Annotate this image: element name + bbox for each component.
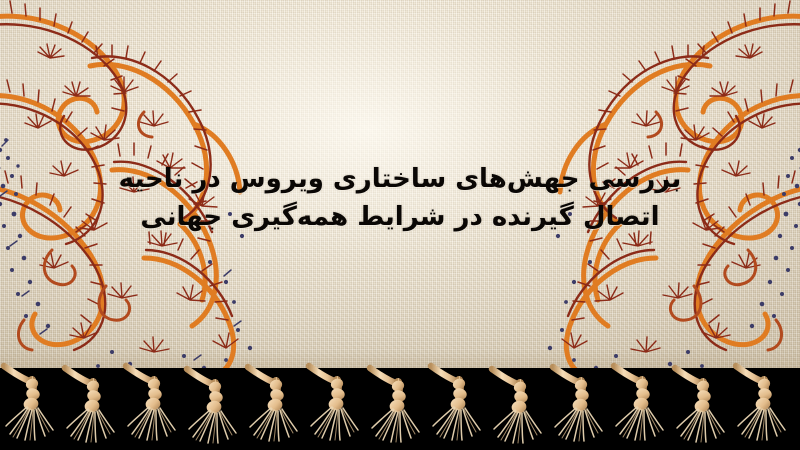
title-block: بررسی جهش‌های ساختاری ویروس در ناحیه اتص… bbox=[0, 160, 800, 236]
title-line-1: بررسی جهش‌های ساختاری ویروس در ناحیه bbox=[0, 160, 800, 198]
title-card: بررسی جهش‌های ساختاری ویروس در ناحیه اتص… bbox=[0, 0, 800, 450]
title-line-2: اتصال گیرنده در شرایط همه‌گیری جهانی bbox=[0, 198, 800, 236]
black-backdrop bbox=[0, 368, 800, 450]
